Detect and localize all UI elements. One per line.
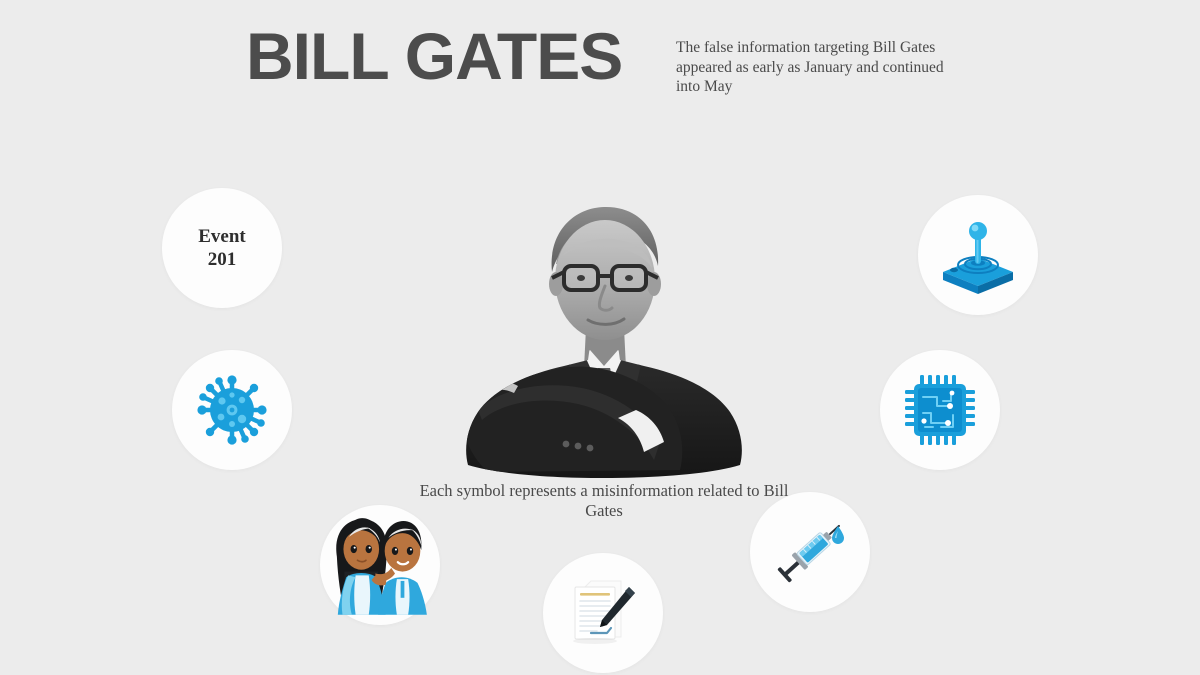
bill-gates-portrait bbox=[448, 160, 760, 480]
header: BILL GATES The false information targeti… bbox=[0, 0, 1200, 120]
portrait-suit bbox=[456, 350, 753, 478]
portrait-eye-left bbox=[577, 275, 585, 281]
symbol-children[interactable] bbox=[320, 505, 440, 625]
symbol-coronavirus[interactable] bbox=[172, 350, 292, 470]
page-title: BILL GATES bbox=[246, 23, 622, 89]
portrait-image bbox=[448, 160, 760, 480]
caption-text: Each symbol represents a misinformation … bbox=[404, 481, 804, 521]
portrait-eye-right bbox=[625, 275, 633, 281]
slide-canvas: BILL GATES The false information targeti… bbox=[0, 0, 1200, 675]
joystick-icon bbox=[937, 214, 1019, 296]
document-pen-icon bbox=[563, 575, 643, 651]
children-icon bbox=[320, 506, 440, 624]
droplet-icon bbox=[832, 526, 844, 544]
symbol-joystick[interactable] bbox=[918, 195, 1038, 315]
header-subtitle: The false information targeting Bill Gat… bbox=[676, 38, 944, 97]
symbol-document[interactable] bbox=[543, 553, 663, 673]
symbol-microchip[interactable] bbox=[880, 350, 1000, 470]
symbol-event-201-label: Event 201 bbox=[198, 225, 246, 271]
symbol-syringe[interactable] bbox=[750, 492, 870, 612]
syringe-icon bbox=[768, 510, 852, 594]
symbol-event-201[interactable]: Event 201 bbox=[162, 188, 282, 308]
joystick-knob-highlight bbox=[972, 225, 979, 232]
microchip-icon bbox=[903, 373, 977, 447]
joystick-knob bbox=[969, 222, 987, 240]
coronavirus-icon bbox=[192, 370, 272, 450]
